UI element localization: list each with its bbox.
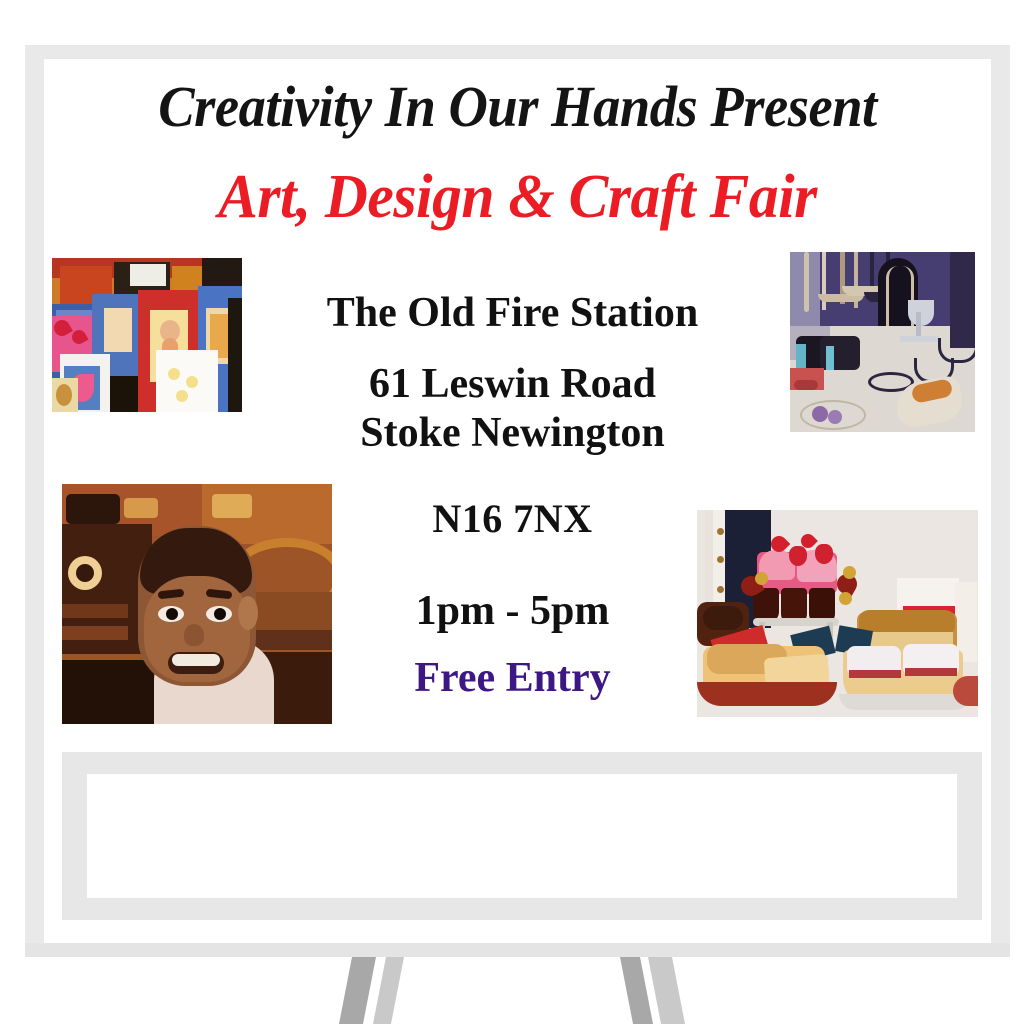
entry-price: Free Entry: [255, 655, 770, 702]
board-rail-bottom: [25, 943, 1010, 957]
venue-name: The Old Fire Station: [255, 290, 770, 337]
easel-leg-right-outer: [620, 957, 653, 1024]
notice-panel-area[interactable]: [87, 774, 957, 898]
opening-time: 1pm - 5pm: [255, 588, 770, 635]
notice-panel-frame: [62, 752, 982, 920]
easel-leg-right-inner: [648, 957, 685, 1024]
photo-greeting-cards: [52, 258, 242, 412]
poster-details: The Old Fire Station 61 Leswin Road Stok…: [255, 290, 770, 702]
easel-leg-left-inner: [373, 957, 404, 1024]
postcode: N16 7NX: [255, 497, 770, 542]
board-rail-top: [25, 45, 1010, 59]
easel-leg-left-outer: [339, 957, 376, 1024]
board-rail-right: [991, 45, 1010, 957]
headline-event: Art, Design & Craft Fair: [63, 166, 972, 228]
board-rail-left: [25, 45, 44, 957]
photo-jewellery-stall: [790, 252, 975, 432]
area-name: Stoke Newington: [255, 410, 770, 457]
street-address: 61 Leswin Road: [255, 361, 770, 408]
headline-presenter: Creativity In Our Hands Present: [72, 78, 962, 136]
poster-scene: Creativity In Our Hands Present Art, Des…: [0, 0, 1024, 1024]
